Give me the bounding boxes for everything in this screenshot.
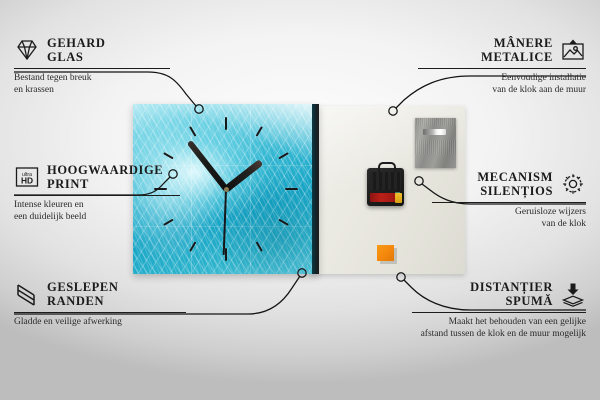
divider bbox=[14, 68, 170, 69]
callout-title: GEHARD GLAS bbox=[47, 36, 105, 64]
callout-title: DISTANȚIER SPUMĂ bbox=[470, 280, 553, 308]
divider bbox=[14, 195, 180, 196]
callout-title: GESLEPEN RANDEN bbox=[47, 280, 119, 308]
callout-silent-mechanism: MECANISM SILENȚIOS Geruisloze wijzers va… bbox=[420, 170, 586, 230]
callout-header: GESLEPEN RANDEN bbox=[14, 280, 199, 308]
callout-header: DISTANȚIER SPUMĂ bbox=[400, 280, 586, 308]
callout-title: MECANISM SILENȚIOS bbox=[477, 170, 553, 198]
callout-header: MECANISM SILENȚIOS bbox=[420, 170, 586, 198]
framed-picture-icon bbox=[560, 37, 586, 63]
diamond-icon bbox=[14, 37, 40, 63]
svg-text:HD: HD bbox=[21, 176, 33, 186]
battery-terminal bbox=[395, 193, 402, 203]
press-down-pad-icon bbox=[560, 281, 586, 307]
callout-title: HOOGWAARDIGE PRINT bbox=[47, 163, 163, 191]
callout-header: ultra HD HOOGWAARDIGE PRINT bbox=[14, 163, 194, 191]
callout-foam-spacer: DISTANȚIER SPUMĂ Maakt het behouden van … bbox=[400, 280, 586, 340]
ultra-hd-icon: ultra HD bbox=[14, 164, 40, 190]
callout-metal-handles: MÂNERE METALICE Eenvoudige installatie v… bbox=[406, 36, 586, 96]
product-infographic: GEHARD GLAS Bestand tegen breuk en krass… bbox=[0, 0, 600, 400]
callout-header: GEHARD GLAS bbox=[14, 36, 184, 64]
divider bbox=[412, 312, 586, 313]
callout-header: MÂNERE METALICE bbox=[406, 36, 586, 64]
clock-mechanism bbox=[367, 168, 404, 206]
callout-tempered-glass: GEHARD GLAS Bestand tegen breuk en krass… bbox=[14, 36, 184, 96]
divider bbox=[14, 312, 186, 313]
hands-center-cap bbox=[224, 187, 229, 192]
orange-foam-spacer bbox=[377, 245, 394, 261]
callout-title: MÂNERE METALICE bbox=[481, 36, 553, 64]
hanger-slot bbox=[423, 129, 446, 135]
metal-grain bbox=[415, 118, 456, 168]
divider bbox=[418, 68, 586, 69]
polished-edges-icon bbox=[14, 281, 40, 307]
gear-icon bbox=[560, 171, 586, 197]
divider bbox=[432, 202, 586, 203]
callout-high-quality-print: ultra HD HOOGWAARDIGE PRINT Intense kleu… bbox=[14, 163, 194, 223]
callout-polished-edges: GESLEPEN RANDEN Gladde en veilige afwerk… bbox=[14, 280, 199, 329]
metal-hanger-plate bbox=[415, 118, 456, 168]
mechanism-body bbox=[370, 172, 401, 190]
